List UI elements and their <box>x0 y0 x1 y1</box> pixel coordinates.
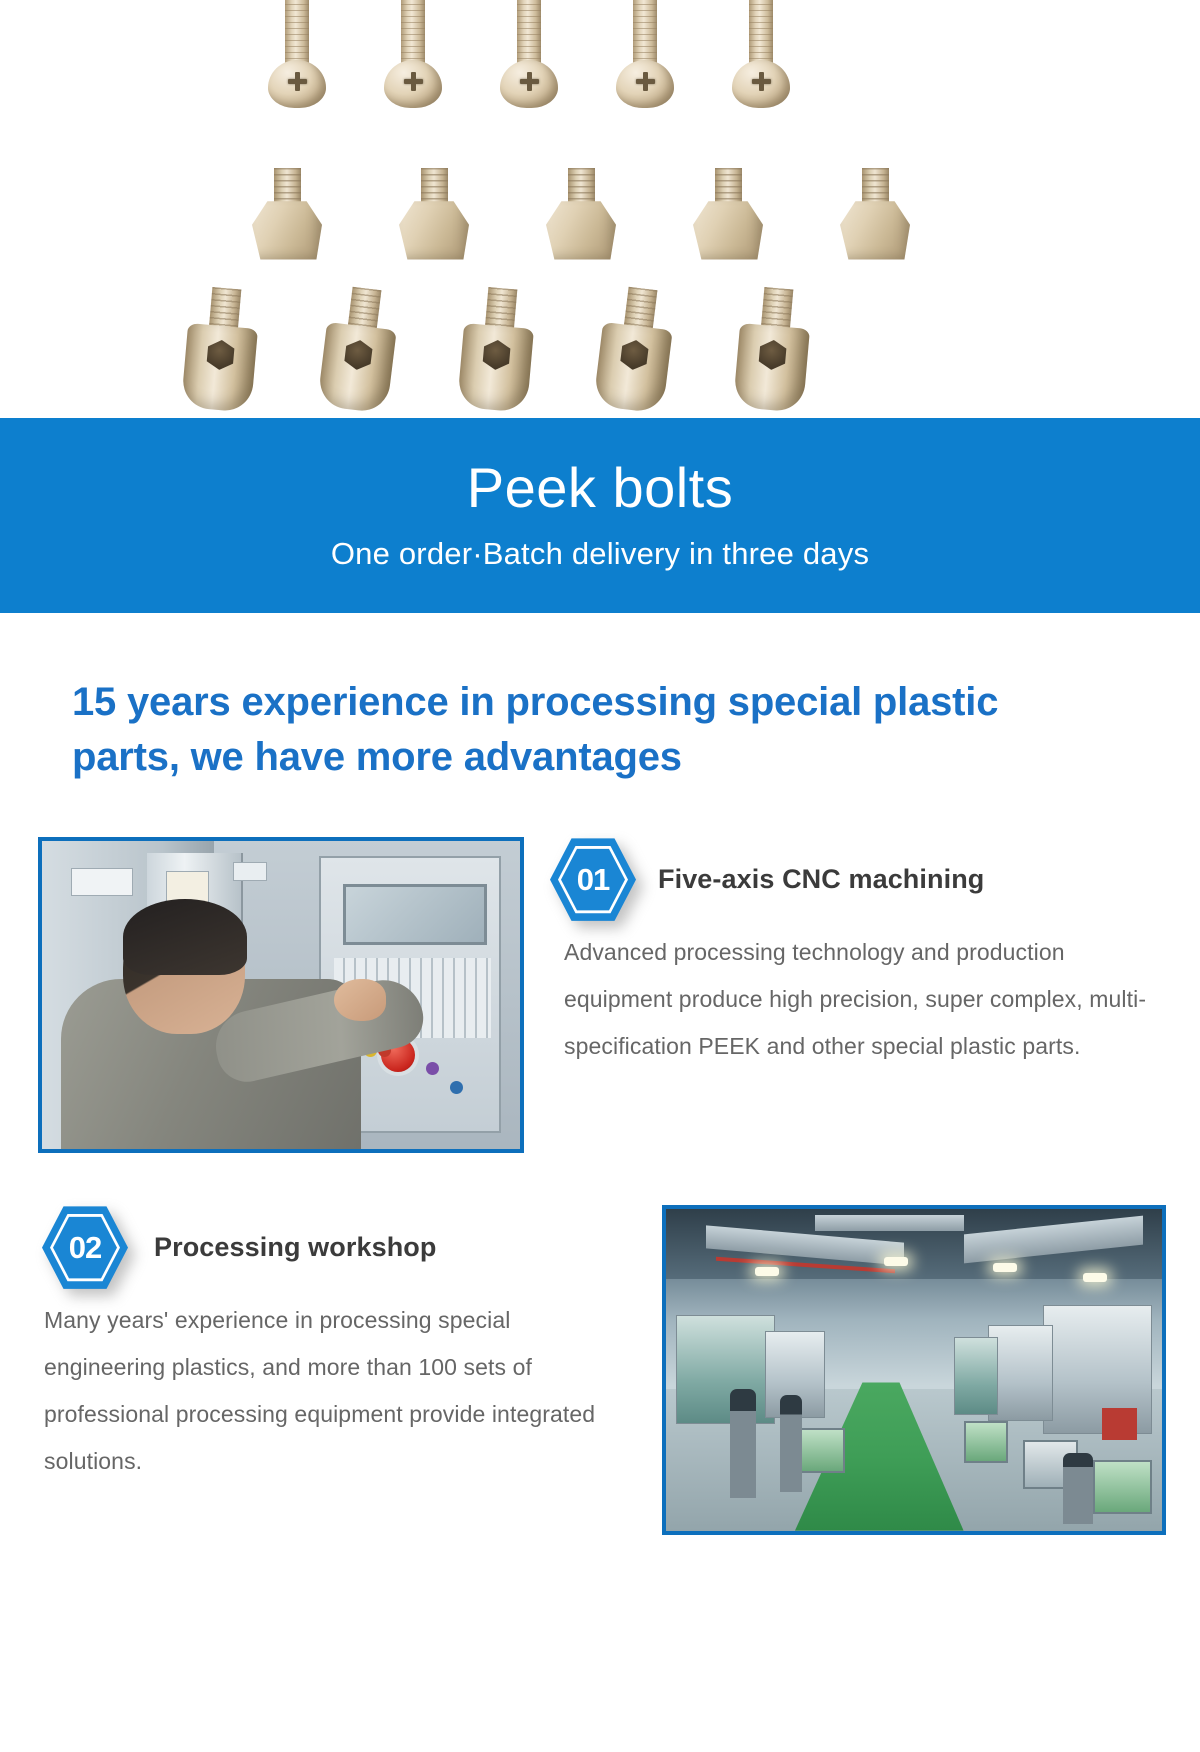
pan-head-screw-row <box>268 0 790 111</box>
feature-02-body: Many years' experience in processing spe… <box>38 1297 636 1486</box>
feature-02-title: Processing workshop <box>154 1232 436 1263</box>
pan-head-screw <box>732 0 790 111</box>
badge-number: 02 <box>42 1205 128 1291</box>
pan-head-screw <box>268 0 326 111</box>
badge-number: 01 <box>550 837 636 923</box>
pan-head-screw <box>384 0 442 111</box>
hex-head-bolt <box>397 168 471 264</box>
feature-block-01: 01 Five-axis CNC machining Advanced proc… <box>0 837 1200 1153</box>
hex-head-bolt <box>544 168 618 264</box>
feature-block-02: 02 Processing workshop Many years' exper… <box>0 1205 1200 1535</box>
hexagon-badge-icon: 01 <box>550 837 636 923</box>
banner-subtitle: One order·Batch delivery in three days <box>331 536 869 572</box>
processing-workshop-photo <box>662 1205 1166 1535</box>
hex-head-bolt <box>691 168 765 264</box>
socket-cap-screw <box>727 285 819 416</box>
cnc-operator-photo <box>38 837 524 1153</box>
hex-head-bolt-row <box>250 168 912 264</box>
feature-01-heading-row: 01 Five-axis CNC machining <box>550 837 1166 923</box>
section-headline: 15 years experience in processing specia… <box>72 675 1062 785</box>
pan-head-screw <box>616 0 674 111</box>
banner-title: Peek bolts <box>467 459 734 518</box>
pan-head-screw <box>500 0 558 111</box>
product-title-banner: Peek bolts One order·Batch delivery in t… <box>0 418 1200 613</box>
hexagon-badge-icon: 02 <box>42 1205 128 1291</box>
socket-cap-screw-row <box>180 288 814 412</box>
hex-head-bolt <box>250 168 324 264</box>
hex-head-bolt <box>838 168 912 264</box>
feature-01-body: Advanced processing technology and produ… <box>550 929 1166 1070</box>
hero-product-image <box>0 0 1200 418</box>
feature-02-heading-row: 02 Processing workshop <box>38 1205 636 1291</box>
socket-cap-screw <box>451 285 543 416</box>
socket-cap-screw <box>587 283 684 416</box>
socket-cap-screw <box>311 283 408 416</box>
feature-01-title: Five-axis CNC machining <box>658 864 984 895</box>
socket-cap-screw <box>175 285 267 416</box>
